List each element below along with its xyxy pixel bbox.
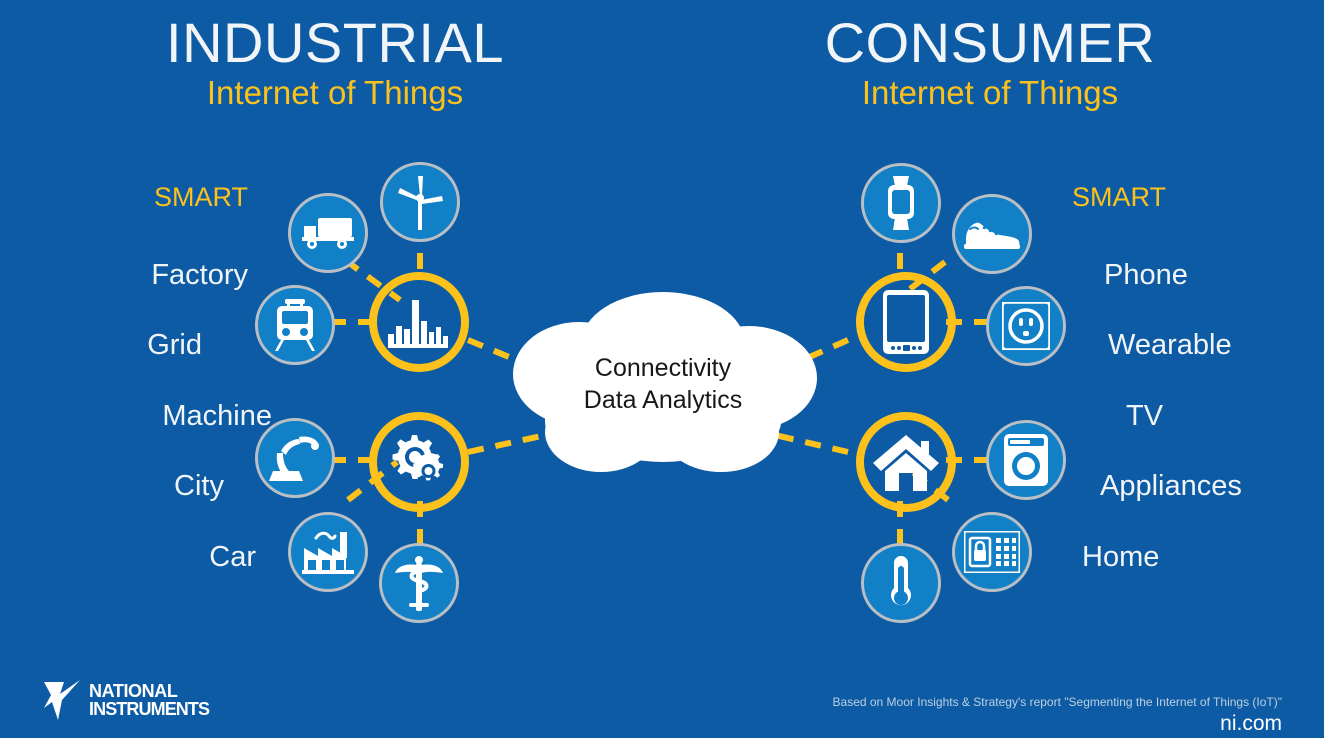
header-industrial-subtitle: Internet of Things [35,74,635,112]
tablet-icon [883,290,929,354]
consumer-label-appliances: Appliances [1100,469,1242,503]
header-industrial-title: INDUSTRIAL [35,12,635,74]
sat-sneaker[interactable] [952,194,1032,274]
consumer-label-wearable: Wearable [1108,328,1232,362]
ni-wordmark: NATIONAL INSTRUMENTS [89,682,209,718]
ni-wordmark-line2: INSTRUMENTS [89,700,209,718]
ni-wordmark-line1: NATIONAL [89,682,209,700]
consumer-label-home: Home [1082,540,1159,574]
sat-robot-arm[interactable] [255,418,335,498]
industrial-label-car: Car [209,540,256,574]
sat-factory[interactable] [288,512,368,592]
cloud-line-1: Connectivity [595,352,731,384]
wind-turbine-icon [394,174,446,230]
caduceus-icon [395,555,443,611]
sat-truck[interactable] [288,193,368,273]
gears-icon [388,433,450,491]
industrial-label-city: City [174,469,224,503]
smartwatch-icon [884,176,918,230]
washing-machine-icon [1004,434,1048,486]
industrial-label-grid: Grid [147,328,202,362]
train-icon [273,299,317,351]
connectivity-cloud: Connectivity Data Analytics [493,282,833,480]
sat-keypad[interactable] [952,512,1032,592]
hub-industrial-upper[interactable] [369,272,469,372]
industrial-label-smart: SMART [154,180,248,214]
sneaker-icon [964,217,1020,251]
sat-train[interactable] [255,285,335,365]
power-outlet-icon [1002,302,1050,350]
industrial-label-factory: Factory [151,258,248,292]
ni-domain-text[interactable]: ni.com [833,712,1282,736]
security-keypad-icon [964,531,1020,573]
consumer-label-tv: TV [1126,399,1163,433]
national-instruments-logo: NATIONAL INSTRUMENTS [42,678,209,722]
sat-outlet[interactable] [986,286,1066,366]
robot-arm-icon [269,435,321,481]
attribution-text: Based on Moor Insights & Strategy's repo… [833,694,1282,710]
header-consumer: CONSUMER Internet of Things [690,12,1290,112]
footer-right-block: Based on Moor Insights & Strategy's repo… [833,694,1282,736]
thermometer-icon [888,556,914,610]
hub-consumer-lower[interactable] [856,412,956,512]
factory-icon [302,530,354,574]
ni-eagle-icon [42,678,82,722]
house-icon [873,433,939,491]
consumer-label-column: SMARTPhoneWearableTVAppliancesHome [1050,170,1300,590]
hub-industrial-lower[interactable] [369,412,469,512]
bar-chart-icon [388,296,450,348]
industrial-label-column: SMARTFactoryGridMachineCityCar [20,170,270,590]
header-consumer-subtitle: Internet of Things [690,74,1290,112]
consumer-label-phone: Phone [1104,258,1188,292]
sat-smartwatch[interactable] [861,163,941,243]
industrial-label-machine: Machine [162,399,272,433]
cloud-line-2: Data Analytics [584,384,742,416]
cloud-text-block: Connectivity Data Analytics [493,282,833,480]
header-industrial: INDUSTRIAL Internet of Things [35,12,635,112]
truck-icon [302,216,354,250]
sat-caduceus[interactable] [379,543,459,623]
sat-washer[interactable] [986,420,1066,500]
sat-wind-turbine[interactable] [380,162,460,242]
hub-consumer-upper[interactable] [856,272,956,372]
infographic-slide: INDUSTRIAL Internet of Things CONSUMER I… [0,0,1324,738]
consumer-label-smart: SMART [1072,180,1166,214]
sat-thermometer[interactable] [861,543,941,623]
header-consumer-title: CONSUMER [690,12,1290,74]
